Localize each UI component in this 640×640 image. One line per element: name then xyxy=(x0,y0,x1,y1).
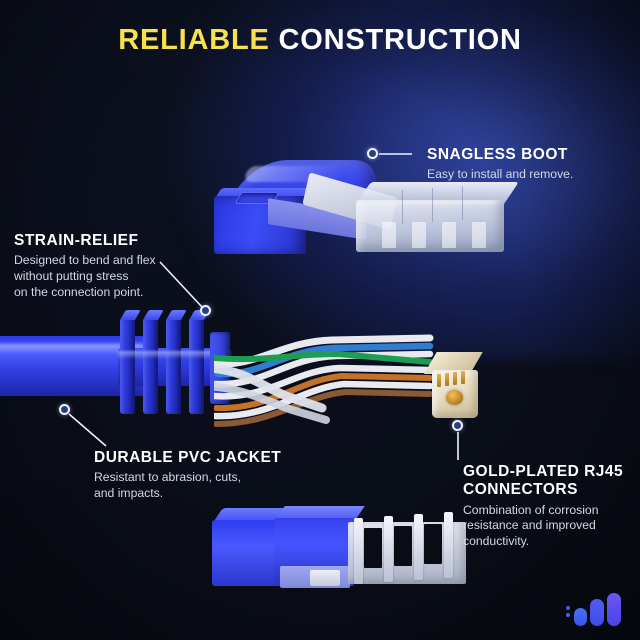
callout-strain-relief: STRAIN-RELIEF Designed to bend and flex … xyxy=(14,232,156,301)
callout-marker-pvc-jacket[interactable] xyxy=(59,404,70,415)
logo-dot xyxy=(566,613,570,617)
callout-body: Designed to bend and flex without puttin… xyxy=(14,253,156,301)
callout-heading-line: GOLD-PLATED RJ45 xyxy=(463,463,633,481)
logo-bar-large xyxy=(607,593,621,626)
callout-body-line: Resistant to abrasion, cuts, xyxy=(94,470,281,486)
callout-body-line: Designed to bend and flex xyxy=(14,253,156,269)
logo-bar-small xyxy=(574,608,587,626)
callout-body-line: without putting stress xyxy=(14,269,156,285)
infographic-canvas: RELIABLE CONSTRUCTION xyxy=(0,0,640,640)
callout-body: Resistant to abrasion, cuts, and impacts… xyxy=(94,470,281,502)
callout-gold-plated-rj45-connectors: GOLD-PLATED RJ45 CONNECTORS Combination … xyxy=(463,463,633,550)
callout-body-line: Combination of corrosion xyxy=(463,503,633,519)
brand-logo xyxy=(566,592,624,626)
callout-marker-snagless-boot[interactable] xyxy=(367,148,378,159)
callout-body-line: and impacts. xyxy=(94,486,281,502)
callout-body: Easy to install and remove. xyxy=(427,167,573,183)
callout-snagless-boot: SNAGLESS BOOT Easy to install and remove… xyxy=(427,146,573,183)
leader-line-pvc-jacket xyxy=(69,414,106,446)
callout-heading-line: CONNECTORS xyxy=(463,481,633,499)
callout-marker-gold-plated[interactable] xyxy=(452,420,463,431)
callout-heading: DURABLE PVC JACKET xyxy=(94,449,281,467)
logo-bar-medium xyxy=(590,599,604,626)
callout-heading: SNAGLESS BOOT xyxy=(427,146,573,164)
callout-body-line: conductivity. xyxy=(463,534,633,550)
callout-body-line: resistance and improved xyxy=(463,518,633,534)
leader-line-strain-relief xyxy=(160,262,202,307)
callout-heading: GOLD-PLATED RJ45 CONNECTORS xyxy=(463,463,633,500)
callout-marker-strain-relief[interactable] xyxy=(200,305,211,316)
callout-body: Combination of corrosion resistance and … xyxy=(463,503,633,551)
callout-durable-pvc-jacket: DURABLE PVC JACKET Resistant to abrasion… xyxy=(94,449,281,502)
logo-dot xyxy=(566,606,570,610)
callout-heading: STRAIN-RELIEF xyxy=(14,232,156,250)
callout-body-line: on the connection point. xyxy=(14,285,156,301)
